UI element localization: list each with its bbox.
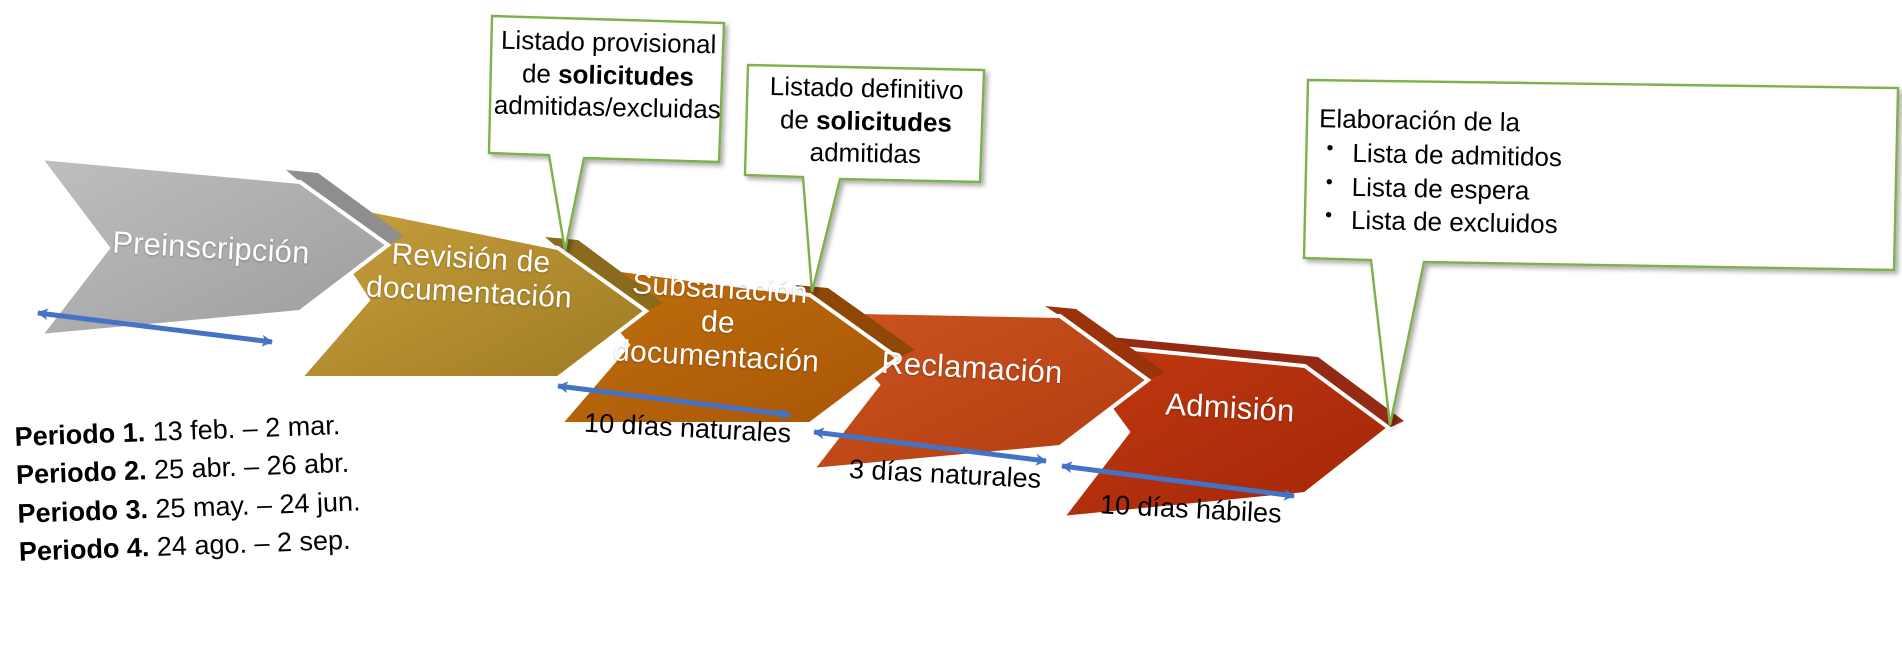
period-name: Periodo 3. [17,494,149,529]
callout-line-3: admitidas/excluidas [494,90,721,125]
period-range: 13 feb. – 2 mar. [145,410,341,447]
callout-line-3: admitidas [809,137,921,169]
period-range: 25 abr. – 26 abr. [146,448,350,485]
period-name: Periodo 2. [16,456,148,491]
callout-line-2-prefix: de [522,58,559,89]
callout-text-listado-provisional: Listado provisional de solicitudes admit… [493,24,723,126]
stage-preinscripcion [40,158,404,336]
period-range: 25 may. – 24 jun. [147,486,361,524]
callout-line-2-bold: solicitudes [558,58,694,91]
callout-line-1: Listado definitivo [770,71,964,105]
callout-line-1: Listado provisional [501,25,717,60]
period-name: Periodo 1. [14,417,146,452]
callout-line-2-bold: solicitudes [816,104,952,137]
diagram-canvas: Preinscripción Revisión de documentación… [0,0,1902,659]
callout-text-listado-definitivo: Listado definitivo de solicitudes admiti… [751,70,981,172]
period-range: 24 ago. – 2 sep. [149,525,351,562]
period-list: Periodo 1. 13 feb. – 2 mar. Periodo 2. 2… [14,405,363,571]
callout-text-elaboracion-listas: Elaboración de la Lista de admitidos Lis… [1317,102,1880,249]
period-name: Periodo 4. [18,532,150,567]
callout-bullet-list: Lista de admitidos Lista de espera Lista… [1317,136,1879,249]
callout-line-2-prefix: de [780,104,817,135]
